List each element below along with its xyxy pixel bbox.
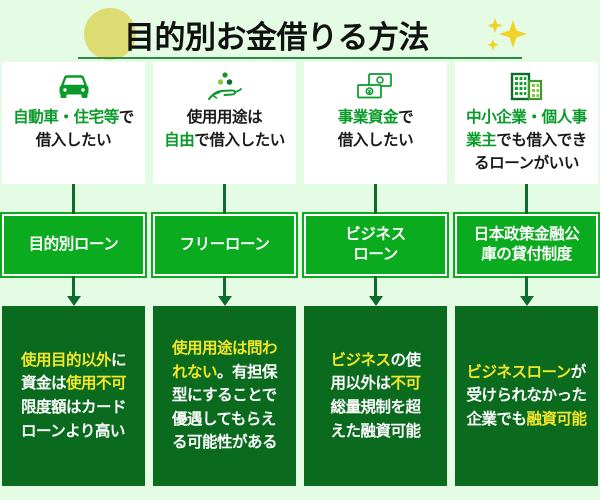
need-card[interactable]: 中小企業・個人事業主でも借入できるローンがいい bbox=[455, 62, 598, 184]
need-card[interactable]: 自動車・住宅等で借入したい bbox=[2, 62, 145, 184]
loan-type-box[interactable]: 目的別ローン bbox=[2, 214, 145, 276]
detail-text: 使用目的以外に資金は使用不可限度額はカードローンより高い bbox=[21, 349, 126, 443]
connector-arrow bbox=[153, 276, 296, 306]
detail-box[interactable]: ビジネスローンが受けられなかった企業でも融資可能 bbox=[455, 306, 598, 486]
need-text: 使用用途は自由で借入したい bbox=[164, 106, 285, 152]
loan-type-label: フリーローン bbox=[180, 235, 270, 255]
columns-container: 自動車・住宅等で借入したい 目的別ローン 使用目的以外に資金は使用不可限度額はカ… bbox=[0, 62, 600, 500]
connector-line bbox=[2, 184, 145, 214]
connector-line bbox=[304, 184, 447, 214]
header: 目的別お金借りる方法 bbox=[0, 0, 600, 62]
loan-type-label: ビジネスローン bbox=[345, 225, 405, 265]
need-text: 自動車・住宅等で借入したい bbox=[13, 106, 134, 152]
need-text: 事業資金で借入したい bbox=[338, 106, 414, 152]
loan-type-box[interactable]: ビジネスローン bbox=[304, 214, 447, 276]
detail-text: ビジネスの使用以外は不可総量規制を超えた融資可能 bbox=[330, 349, 420, 443]
hand-coins-icon bbox=[205, 70, 245, 104]
column-jfc-loan: 中小企業・個人事業主でも借入できるローンがいい 日本政策金融公庫の貸付制度 ビジ… bbox=[455, 62, 598, 500]
detail-box[interactable]: ビジネスの使用以外は不可総量規制を超えた融資可能 bbox=[304, 306, 447, 486]
loan-type-label: 日本政策金融公庫の貸付制度 bbox=[474, 225, 580, 265]
detail-box[interactable]: 使用目的以外に資金は使用不可限度額はカードローンより高い bbox=[2, 306, 145, 486]
page-title: 目的別お金借りる方法 bbox=[124, 12, 429, 57]
detail-text: ビジネスローンが受けられなかった企業でも融資可能 bbox=[466, 361, 586, 432]
need-card[interactable]: 事業資金で借入したい bbox=[304, 62, 447, 184]
loan-type-box[interactable]: フリーローン bbox=[153, 214, 296, 276]
banknote-icon bbox=[355, 70, 397, 104]
sparkle-icon bbox=[482, 14, 538, 56]
building-icon bbox=[509, 70, 545, 104]
title-underline bbox=[78, 57, 522, 59]
detail-text: 使用用途は問われない。有担保型にすることで優遇してもらえる可能性がある bbox=[172, 337, 277, 455]
need-card[interactable]: 使用用途は自由で借入したい bbox=[153, 62, 296, 184]
connector-arrow bbox=[304, 276, 447, 306]
infographic-page: 目的別お金借りる方法 bbox=[0, 0, 600, 500]
column-business-loan: 事業資金で借入したい ビジネスローン ビジネスの使用以外は不可総量規制を超えた融… bbox=[304, 62, 447, 500]
connector-arrow bbox=[2, 276, 145, 306]
loan-type-box[interactable]: 日本政策金融公庫の貸付制度 bbox=[455, 214, 598, 276]
connector-line bbox=[153, 184, 296, 214]
detail-box[interactable]: 使用用途は問われない。有担保型にすることで優遇してもらえる可能性がある bbox=[153, 306, 296, 486]
column-free-loan: 使用用途は自由で借入したい フリーローン 使用用途は問われない。有担保型にするこ… bbox=[153, 62, 296, 500]
need-text: 中小企業・個人事業主でも借入できるローンがいい bbox=[466, 106, 587, 175]
connector-line bbox=[455, 184, 598, 214]
connector-arrow bbox=[455, 276, 598, 306]
loan-type-label: 目的別ローン bbox=[29, 235, 119, 255]
car-icon bbox=[57, 70, 91, 104]
column-purpose-loan: 自動車・住宅等で借入したい 目的別ローン 使用目的以外に資金は使用不可限度額はカ… bbox=[2, 62, 145, 500]
